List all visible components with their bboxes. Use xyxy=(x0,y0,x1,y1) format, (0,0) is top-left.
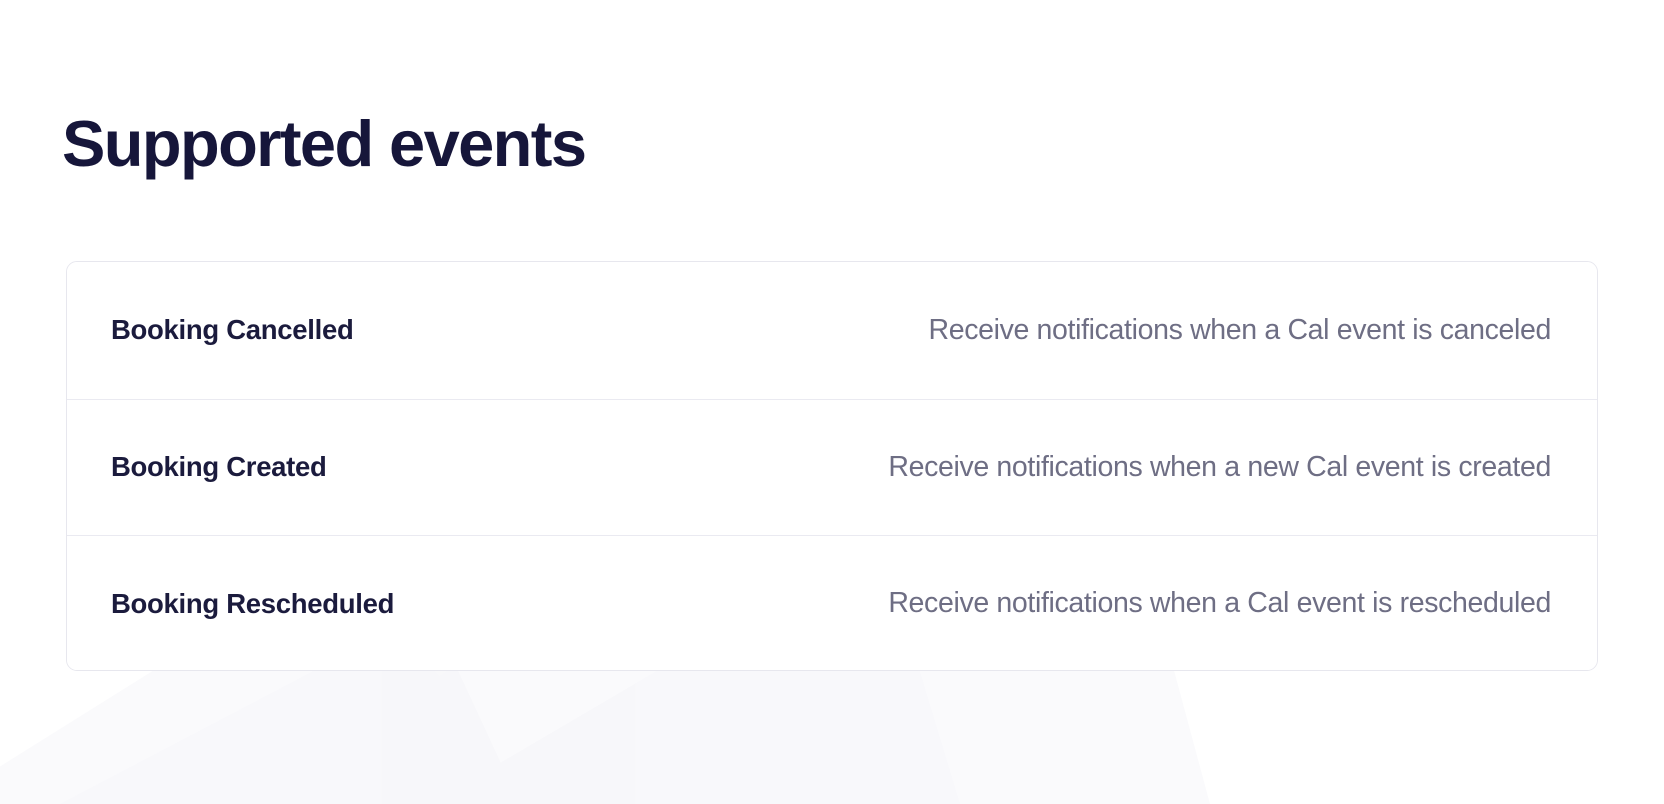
event-description: Receive notifications when a new Cal eve… xyxy=(888,451,1551,484)
table-row[interactable]: Booking Rescheduled Receive notification… xyxy=(67,535,1597,671)
event-name: Booking Cancelled xyxy=(111,314,353,346)
supported-events-card: Booking Cancelled Receive notifications … xyxy=(66,261,1598,671)
event-description: Receive notifications when a Cal event i… xyxy=(888,587,1551,620)
page-root: Supported events Booking Cancelled Recei… xyxy=(0,0,1664,804)
event-name: Booking Created xyxy=(111,451,327,483)
event-name: Booking Rescheduled xyxy=(111,588,394,620)
table-row[interactable]: Booking Cancelled Receive notifications … xyxy=(67,262,1597,399)
table-row[interactable]: Booking Created Receive notifications wh… xyxy=(67,399,1597,536)
page-title: Supported events xyxy=(62,110,585,178)
event-description: Receive notifications when a Cal event i… xyxy=(928,314,1551,347)
